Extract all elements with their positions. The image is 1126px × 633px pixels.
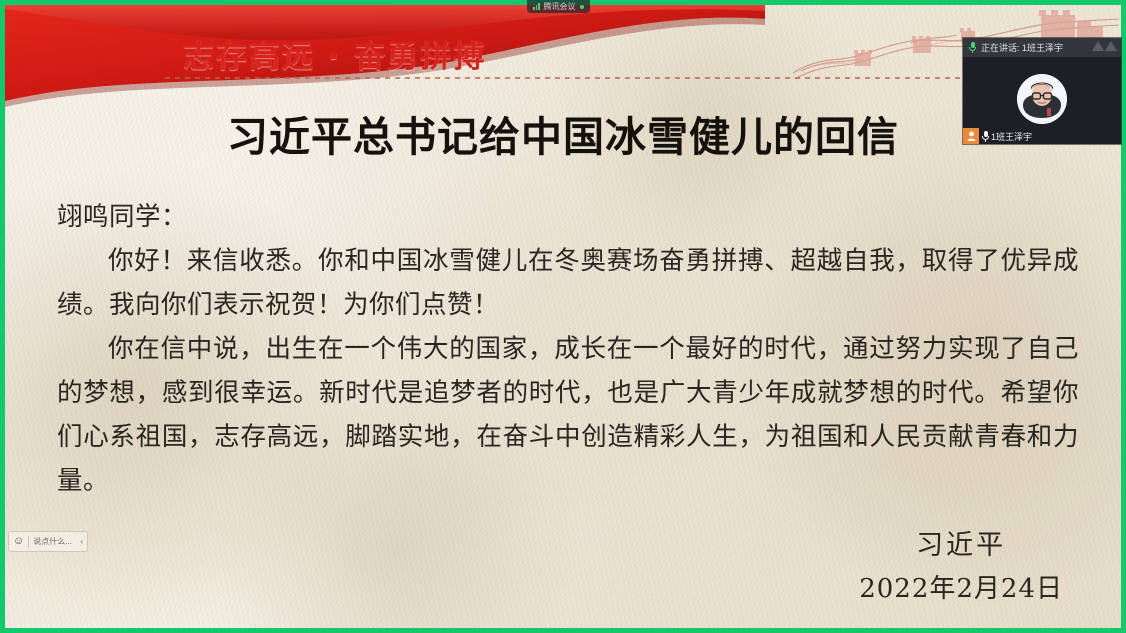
meeting-floating-bar[interactable]: 腾讯会议	[527, 0, 590, 13]
participant-name-label: 1班王泽宇	[991, 130, 1032, 143]
microphone-icon	[969, 42, 976, 53]
video-feed-area[interactable]: 1班王泽宇	[963, 57, 1121, 144]
chevron-collapse-icon[interactable]	[1092, 41, 1117, 51]
participant-name-chip: 1班王泽宇	[979, 128, 1037, 144]
signature-date: 2022年2月24日	[859, 568, 1063, 605]
signature-name: 习近平	[859, 523, 1063, 562]
page-title: 习近平总书记给中国冰雪健儿的回信	[5, 103, 1121, 163]
presentation-slide: 志存高远 · 奋勇拼搏 习近平总书记给中国冰雪健儿的回信 翊鸣同学： 你好！来信…	[5, 5, 1121, 628]
letter-signature: 习近平 2022年2月24日	[859, 523, 1063, 605]
letter-body: 翊鸣同学： 你好！来信收悉。你和中国冰雪健儿在冬奥赛场奋勇拼搏、超越自我，取得了…	[57, 195, 1079, 503]
video-thumbnail-panel[interactable]: 正在讲话: 1班王泽宇	[963, 38, 1121, 144]
speaking-status-label: 正在讲话: 1班王泽宇	[981, 41, 1063, 54]
chat-input-placeholder[interactable]: 说点什么...	[33, 536, 76, 547]
slide-banner-slogan: 志存高远 · 奋勇拼搏	[183, 31, 486, 76]
emoji-smiley-icon[interactable]: ☺	[13, 536, 24, 547]
video-panel-header: 正在讲话: 1班王泽宇	[963, 38, 1121, 57]
host-person-icon	[963, 128, 979, 144]
letter-salutation: 翊鸣同学：	[57, 195, 1079, 239]
chat-input-bar[interactable]: ☺ 说点什么... ‹	[8, 531, 88, 552]
letter-paragraph-2: 你在信中说，出生在一个伟大的国家，成长在一个最好的时代，通过努力实现了自己的梦想…	[57, 327, 1079, 503]
divider	[28, 536, 29, 548]
user-avatar-icon	[1017, 74, 1067, 124]
recording-dot-icon	[580, 5, 584, 9]
letter-paragraph-1: 你好！来信收悉。你和中国冰雪健儿在冬奥赛场奋勇拼搏、超越自我，取得了优异成绩。我…	[57, 239, 1079, 327]
meeting-app-label: 腾讯会议	[544, 3, 576, 11]
screen: 志存高远 · 奋勇拼搏 习近平总书记给中国冰雪健儿的回信 翊鸣同学： 你好！来信…	[0, 0, 1126, 633]
participant-name-badge: 1班王泽宇	[963, 128, 1037, 144]
microphone-icon	[982, 131, 989, 142]
signal-bars-icon	[533, 3, 540, 10]
chevron-left-icon[interactable]: ‹	[80, 537, 83, 546]
